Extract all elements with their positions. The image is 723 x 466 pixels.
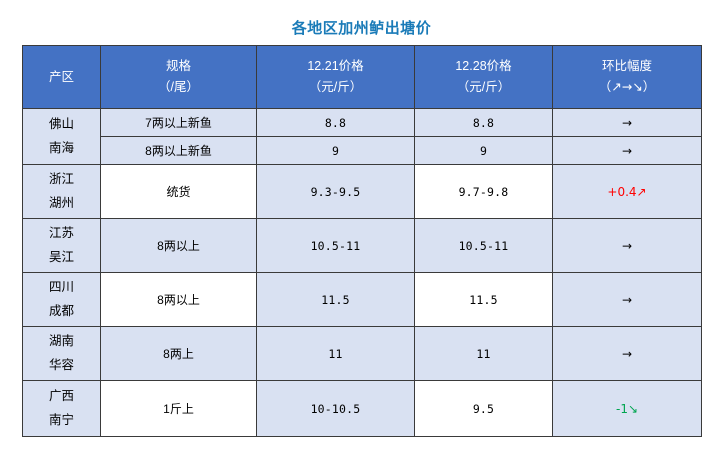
- cell-change: →: [553, 137, 702, 165]
- cell-price-1221-text: 11: [328, 347, 342, 361]
- cell-spec-text: 8两上: [163, 347, 194, 361]
- region-name-line2: 湖州: [23, 192, 100, 215]
- region-name-line1: 湖南: [23, 330, 100, 353]
- cell-spec-text: 8两以上新鱼: [145, 144, 212, 158]
- column-header-change-line1: 环比幅度: [553, 56, 701, 77]
- column-header-region: 产区: [23, 46, 101, 109]
- cell-price-1228-text: 10.5-11: [459, 239, 509, 253]
- cell-price-1228-text: 11.5: [469, 293, 498, 307]
- cell-price-1221: 11: [257, 327, 415, 381]
- column-header-price-1228: 12.28价格 （元/斤）: [415, 46, 553, 109]
- cell-spec: 8两以上: [101, 273, 257, 327]
- column-header-change: 环比幅度 （↗→↘）: [553, 46, 702, 109]
- cell-price-1221: 10.5-11: [257, 219, 415, 273]
- cell-region: 广西南宁: [23, 381, 101, 437]
- price-table-container: 产区 规格 （/尾） 12.21价格 （元/斤） 12.28价格 （元/斤）: [22, 45, 701, 437]
- cell-spec-text: 7两以上新鱼: [145, 116, 212, 130]
- region-name-line1: 佛山: [23, 113, 100, 136]
- cell-spec: 8两上: [101, 327, 257, 381]
- cell-region: 四川成都: [23, 273, 101, 327]
- table-row: 佛山南海7两以上新鱼8.88.8→: [23, 109, 702, 137]
- column-header-spec-line2: （/尾）: [101, 77, 256, 98]
- table-header-row: 产区 规格 （/尾） 12.21价格 （元/斤） 12.28价格 （元/斤）: [23, 46, 702, 109]
- cell-spec: 7两以上新鱼: [101, 109, 257, 137]
- cell-change: -1↘: [553, 381, 702, 437]
- cell-spec: 统货: [101, 165, 257, 219]
- column-header-price-1228-line2: （元/斤）: [415, 77, 552, 98]
- cell-price-1221: 9.3-9.5: [257, 165, 415, 219]
- cell-change: →: [553, 109, 702, 137]
- cell-price-1228: 9: [415, 137, 553, 165]
- cell-change: →: [553, 327, 702, 381]
- cell-change-text: +0.4↗: [607, 185, 646, 199]
- cell-change-text: →: [622, 293, 632, 307]
- cell-spec-text: 1斤上: [163, 402, 194, 416]
- table-row: 8两以上新鱼99→: [23, 137, 702, 165]
- cell-price-1228-text: 8.8: [473, 116, 494, 130]
- cell-spec: 1斤上: [101, 381, 257, 437]
- cell-price-1221-text: 8.8: [325, 116, 346, 130]
- cell-price-1221-text: 10-10.5: [311, 402, 361, 416]
- cell-region: 江苏吴江: [23, 219, 101, 273]
- table-row: 江苏吴江8两以上10.5-1110.5-11→: [23, 219, 702, 273]
- cell-change-text: →: [622, 239, 632, 253]
- cell-region: 湖南华容: [23, 327, 101, 381]
- cell-change-text: -1↘: [616, 402, 638, 416]
- cell-price-1228-text: 9.7-9.8: [459, 185, 509, 199]
- cell-price-1221: 11.5: [257, 273, 415, 327]
- cell-spec: 8两以上新鱼: [101, 137, 257, 165]
- region-name-line1: 江苏: [23, 222, 100, 245]
- region-name-line2: 吴江: [23, 246, 100, 269]
- cell-region: 佛山南海: [23, 109, 101, 165]
- cell-price-1221: 10-10.5: [257, 381, 415, 437]
- cell-change-text: →: [622, 116, 632, 130]
- table-row: 广西南宁1斤上10-10.59.5-1↘: [23, 381, 702, 437]
- table-row: 浙江湖州统货9.3-9.59.7-9.8+0.4↗: [23, 165, 702, 219]
- cell-price-1228-text: 11: [476, 347, 490, 361]
- cell-spec-text: 8两以上: [157, 239, 200, 253]
- cell-region: 浙江湖州: [23, 165, 101, 219]
- column-header-price-1221-line2: （元/斤）: [257, 77, 414, 98]
- region-name-line1: 四川: [23, 276, 100, 299]
- cell-change: →: [553, 219, 702, 273]
- cell-price-1228: 8.8: [415, 109, 553, 137]
- cell-price-1221: 8.8: [257, 109, 415, 137]
- column-header-region-line1: 产区: [23, 67, 100, 88]
- cell-price-1221: 9: [257, 137, 415, 165]
- cell-price-1228: 9.7-9.8: [415, 165, 553, 219]
- cell-price-1221-text: 9: [332, 144, 339, 158]
- price-table: 产区 规格 （/尾） 12.21价格 （元/斤） 12.28价格 （元/斤）: [22, 45, 702, 437]
- cell-spec-text: 8两以上: [157, 293, 200, 307]
- table-header: 产区 规格 （/尾） 12.21价格 （元/斤） 12.28价格 （元/斤）: [23, 46, 702, 109]
- region-name-line1: 浙江: [23, 168, 100, 191]
- column-header-price-1221: 12.21价格 （元/斤）: [257, 46, 415, 109]
- cell-price-1228: 11: [415, 327, 553, 381]
- cell-spec: 8两以上: [101, 219, 257, 273]
- column-header-price-1221-line1: 12.21价格: [257, 56, 414, 77]
- cell-price-1221-text: 10.5-11: [311, 239, 361, 253]
- table-row: 四川成都8两以上11.511.5→: [23, 273, 702, 327]
- cell-price-1228-text: 9: [480, 144, 487, 158]
- cell-change-text: →: [622, 144, 632, 158]
- cell-change: +0.4↗: [553, 165, 702, 219]
- table-body: 佛山南海7两以上新鱼8.88.8→8两以上新鱼99→浙江湖州统货9.3-9.59…: [23, 109, 702, 437]
- region-name-line1: 广西: [23, 385, 100, 408]
- column-header-spec: 规格 （/尾）: [101, 46, 257, 109]
- cell-change: →: [553, 273, 702, 327]
- region-name-line2: 南海: [23, 137, 100, 160]
- table-row: 湖南华容8两上1111→: [23, 327, 702, 381]
- page-root: 各地区加州鲈出塘价 产区 规格 （/尾） 12.21价格 （元/斤）: [0, 0, 723, 466]
- cell-price-1228: 11.5: [415, 273, 553, 327]
- cell-price-1221-text: 9.3-9.5: [311, 185, 361, 199]
- cell-price-1228: 10.5-11: [415, 219, 553, 273]
- region-name-line2: 南宁: [23, 409, 100, 432]
- cell-change-text: →: [622, 347, 632, 361]
- region-name-line2: 成都: [23, 300, 100, 323]
- cell-price-1228-text: 9.5: [473, 402, 494, 416]
- cell-price-1221-text: 11.5: [321, 293, 350, 307]
- cell-spec-text: 统货: [166, 185, 190, 199]
- column-header-price-1228-line1: 12.28价格: [415, 56, 552, 77]
- column-header-change-line2: （↗→↘）: [553, 77, 701, 98]
- cell-price-1228: 9.5: [415, 381, 553, 437]
- region-name-line2: 华容: [23, 354, 100, 377]
- page-title: 各地区加州鲈出塘价: [0, 17, 723, 38]
- column-header-spec-line1: 规格: [101, 56, 256, 77]
